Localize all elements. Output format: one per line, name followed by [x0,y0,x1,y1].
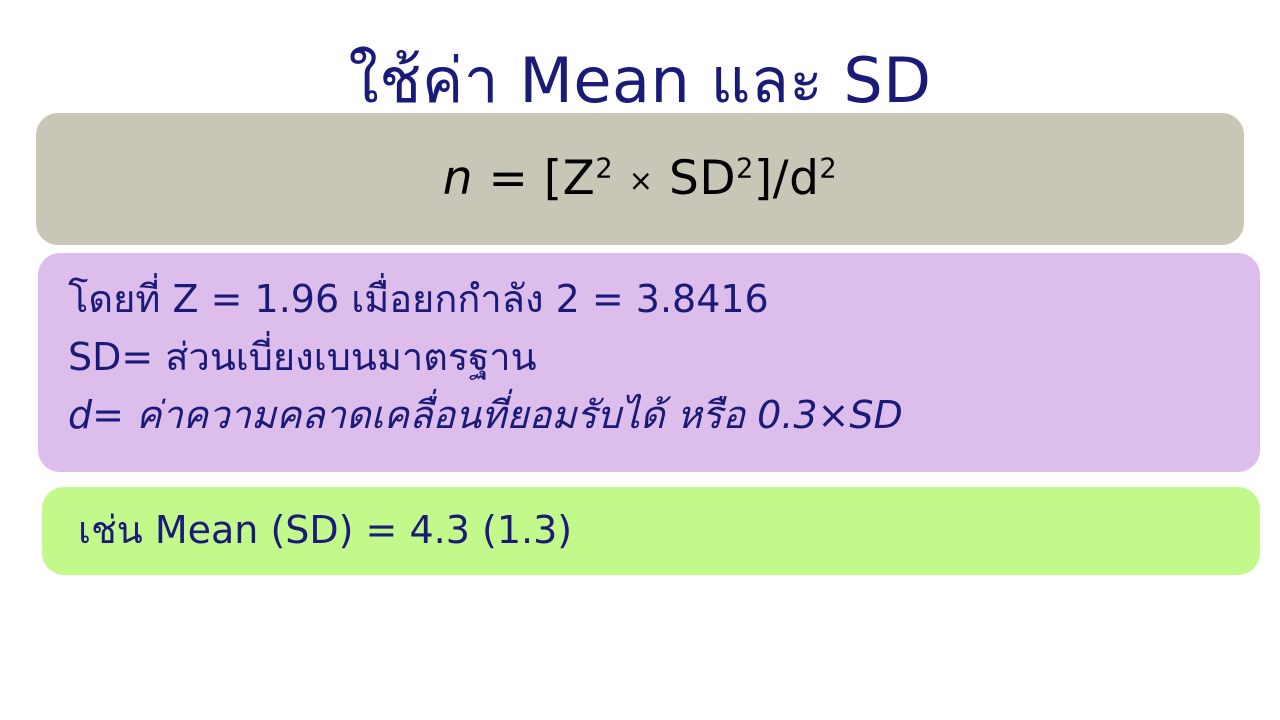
formula-equals-open: = [ [473,151,563,206]
definition-line-sd: SD= ส่วนเบี่ยงเบนมาตรฐาน [68,329,1260,387]
formula-panel: n = [Z2 × SD2]/d2 [36,113,1244,245]
sample-size-formula: n = [Z2 × SD2]/d2 [443,153,838,205]
formula-z-exponent: 2 [595,154,613,185]
page-title: ใช้ค่า Mean และ SD [0,50,1280,112]
formula-close-bracket: ]/ [754,151,789,206]
formula-z: Z [563,151,596,206]
definitions-panel: โดยที่ Z = 1.96 เมื่อยกกำลัง 2 = 3.8416 … [38,253,1260,472]
formula-sd-exponent: 2 [736,154,754,185]
example-text: เช่น Mean (SD) = 4.3 (1.3) [78,508,572,554]
definition-line-z: โดยที่ Z = 1.96 เมื่อยกกำลัง 2 = 3.8416 [68,271,1260,329]
formula-variable-n: n [443,151,473,206]
formula-d-exponent: 2 [819,154,837,185]
slide-canvas: ใช้ค่า Mean และ SD n = [Z2 × SD2]/d2 โดย… [0,0,1280,720]
formula-d: d [789,151,819,206]
formula-multiply-icon: × [629,164,654,198]
definition-line-d: d= ค่าความคลาดเคลื่อนที่ยอมรับได้ หรือ 0… [68,387,1260,445]
formula-sd: SD [669,151,736,206]
example-panel: เช่น Mean (SD) = 4.3 (1.3) [42,487,1260,575]
